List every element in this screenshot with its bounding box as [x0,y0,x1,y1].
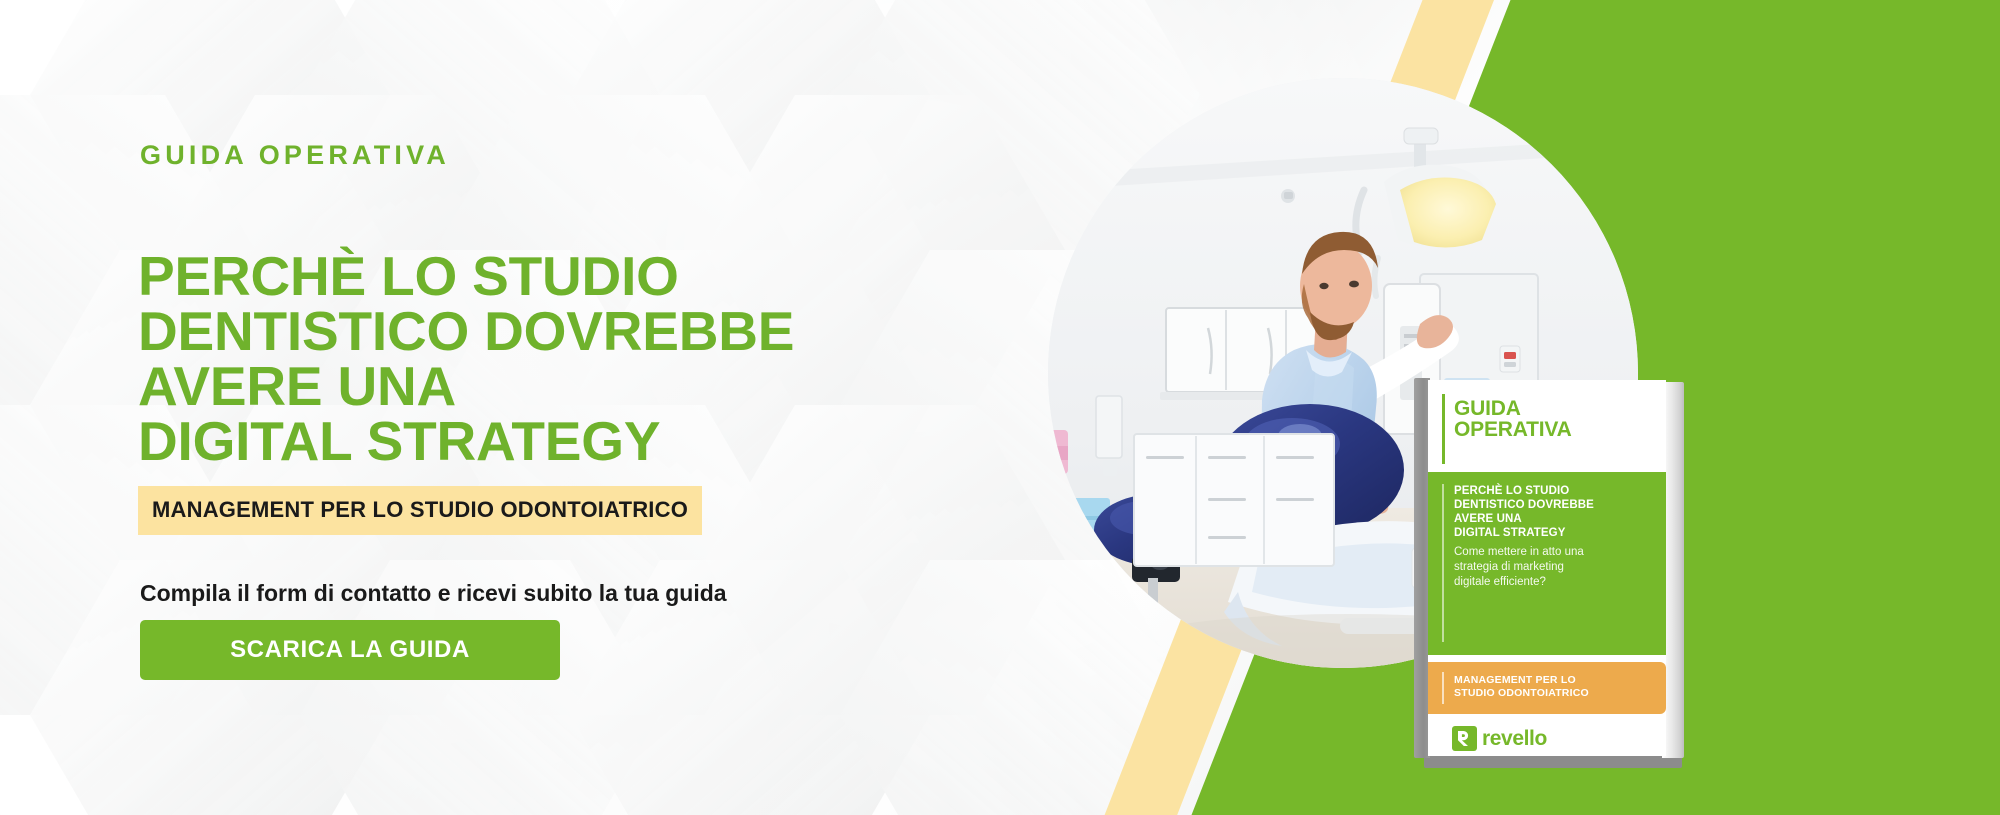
ebook-mockup: GUIDA OPERATIVA PERCHÈ LO STUDIO DENTIST… [1414,378,1714,773]
cover-orange-panel: MANAGEMENT PER LO STUDIO ODONTOIATRICO [1428,662,1666,714]
promo-banner: GUIDA OPERATIVA PERCHÈ LO STUDIO DENTIST… [0,0,2000,815]
ebook-cover: GUIDA OPERATIVA PERCHÈ LO STUDIO DENTIST… [1428,380,1666,756]
cover-footer-text: MANAGEMENT PER LO STUDIO ODONTOIATRICO [1454,674,1654,701]
revello-logo: revello [1452,726,1547,751]
cover-subtitle: PERCHÈ LO STUDIO DENTISTICO DOVREBBE AVE… [1454,484,1654,540]
cover-orange-accent-line [1442,672,1444,704]
cover-description: Come mettere in atto una strategia di ma… [1454,545,1650,591]
eyebrow-label: GUIDA OPERATIVA [140,140,450,171]
download-guide-button[interactable]: SCARICA LA GUIDA [140,620,560,680]
banner-content: GUIDA OPERATIVA PERCHÈ LO STUDIO DENTIST… [138,0,958,815]
highlight-banner: MANAGEMENT PER LO STUDIO ODONTOIATRICO [138,486,702,535]
lead-text: Compila il form di contatto e ricevi sub… [140,580,727,607]
page-title: PERCHÈ LO STUDIO DENTISTICO DOVREBBE AVE… [138,249,794,469]
revello-mark-icon [1452,726,1477,751]
cover-title: GUIDA OPERATIVA [1454,398,1572,441]
cover-accent-line [1442,394,1445,464]
highlight-text: MANAGEMENT PER LO STUDIO ODONTOIATRICO [152,497,688,522]
cover-green-panel: PERCHÈ LO STUDIO DENTISTICO DOVREBBE AVE… [1428,472,1666,655]
cover-green-accent-line [1442,484,1444,642]
revello-wordmark: revello [1482,728,1547,749]
